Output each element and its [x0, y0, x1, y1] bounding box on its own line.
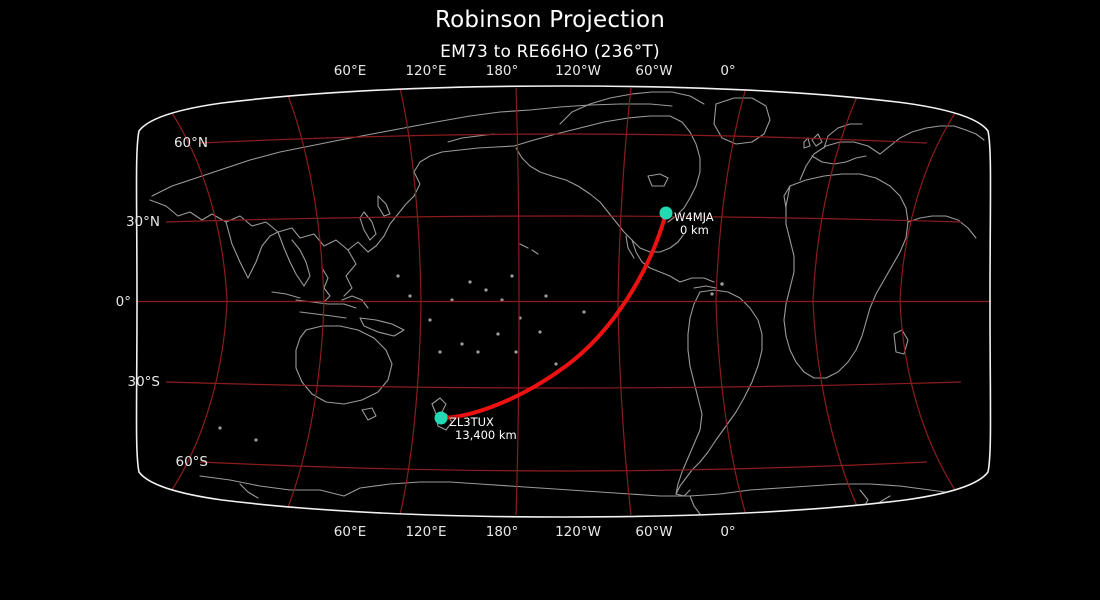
lon-tick-top-5: 0° — [720, 63, 735, 79]
lon-tick-bottom-5: 0° — [720, 524, 735, 540]
lon-tick-top-1: 120°E — [405, 63, 446, 79]
marker-name-zl3tux: ZL3TUX — [449, 415, 494, 429]
lat-tick-60s: 60°S — [176, 454, 209, 470]
lon-tick-top-2: 180° — [486, 63, 519, 79]
marker-distance-w4mja: 0 km — [674, 224, 714, 237]
marker-label-w4mja: W4MJA 0 km — [674, 211, 714, 236]
lat-tick-30n: 30°N — [126, 214, 160, 230]
lon-tick-top-3: 120°W — [555, 63, 601, 79]
map-figure: Robinson Projection EM73 to RE66HO (236°… — [0, 0, 1100, 600]
lat-tick-30s: 30°S — [128, 374, 161, 390]
marker-w4mja[interactable] — [660, 207, 673, 220]
lon-tick-top-0: 60°E — [334, 63, 366, 79]
lat-tick-0: 0° — [116, 294, 131, 310]
lon-tick-bottom-4: 60°W — [635, 524, 672, 540]
lon-tick-top-4: 60°W — [635, 63, 672, 79]
lon-tick-bottom-1: 120°E — [405, 524, 446, 540]
lat-tick-60n: 60°N — [174, 135, 208, 151]
marker-name-w4mja: W4MJA — [674, 210, 714, 224]
lon-tick-bottom-3: 120°W — [555, 524, 601, 540]
marker-distance-zl3tux: 13,400 km — [449, 429, 517, 442]
marker-zl3tux[interactable] — [435, 412, 448, 425]
map-canvas — [0, 0, 1100, 600]
lon-tick-bottom-2: 180° — [486, 524, 519, 540]
lon-tick-bottom-0: 60°E — [334, 524, 366, 540]
marker-label-zl3tux: ZL3TUX 13,400 km — [449, 416, 517, 441]
